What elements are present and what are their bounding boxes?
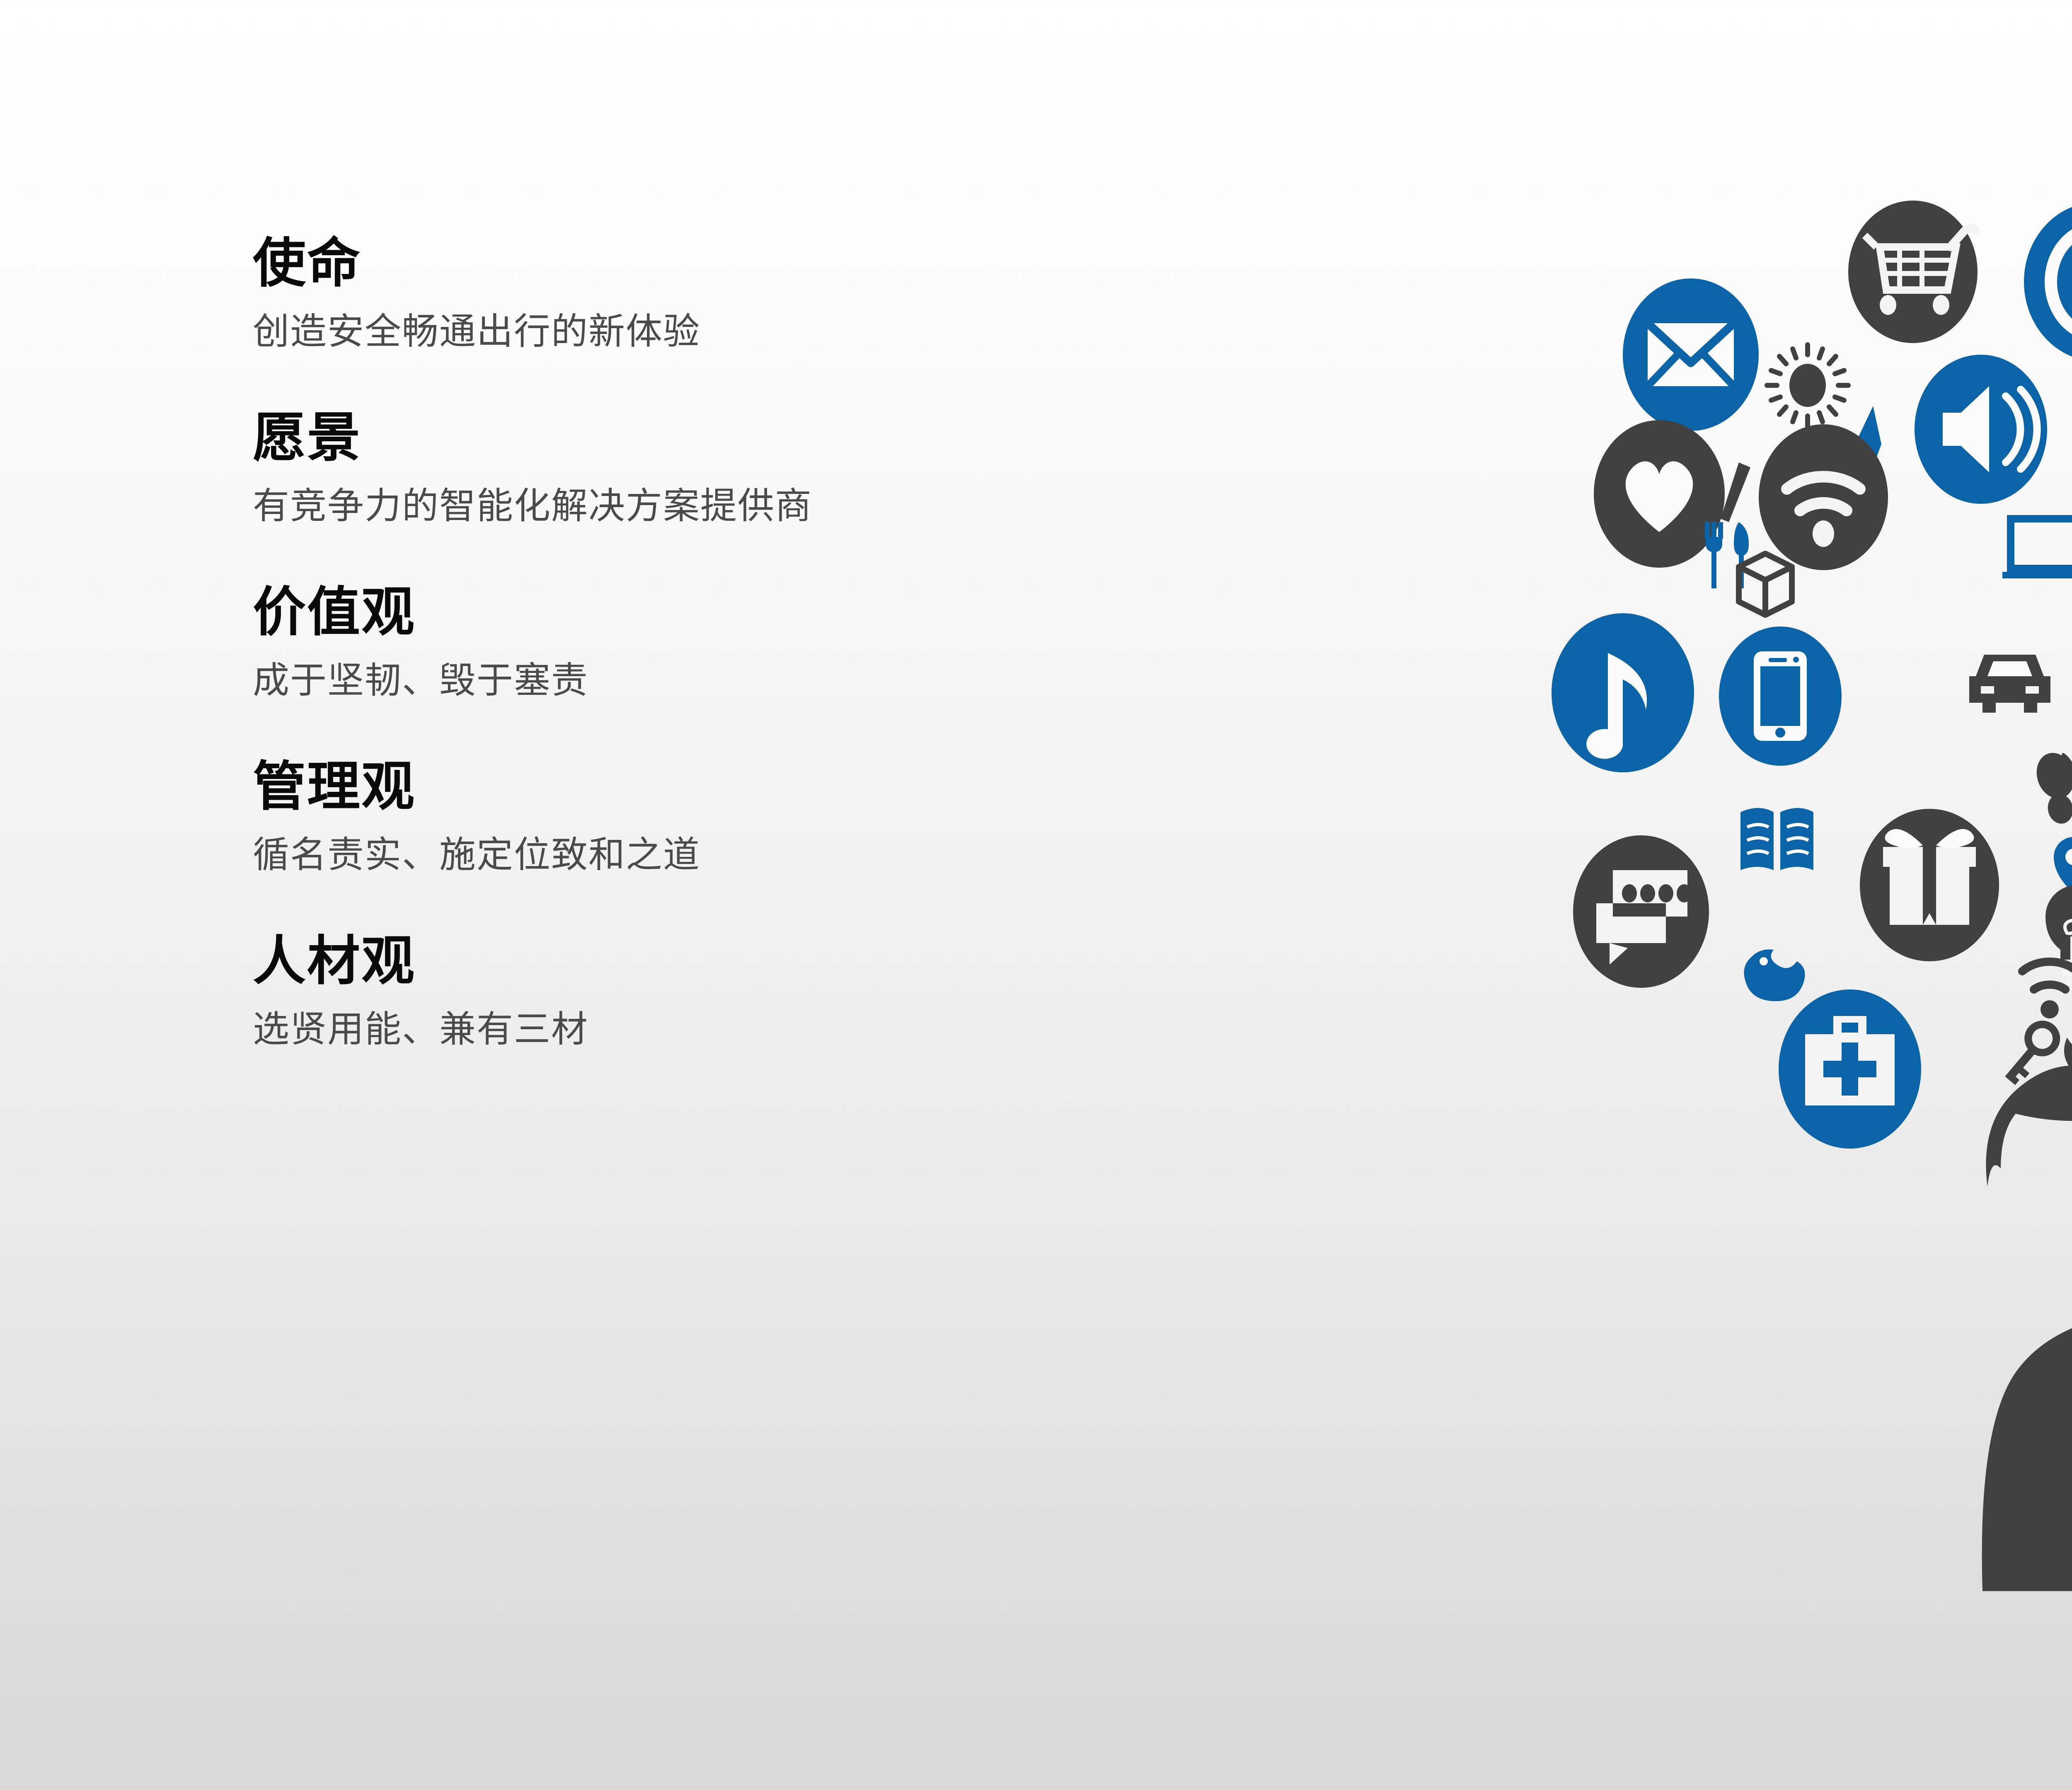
smiley-icon xyxy=(2024,202,2072,361)
value-title-mission: 使命 xyxy=(253,232,1247,295)
smartphone-icon xyxy=(1719,626,1842,766)
briefcase-medical-icon xyxy=(1779,989,1921,1149)
value-title-core-values: 价值观 xyxy=(253,581,1247,643)
car-icon xyxy=(1969,655,2050,713)
sun-icon xyxy=(1767,345,1848,426)
value-block-mission: 使命 创造安全畅通出行的新体验 xyxy=(253,232,1247,354)
heart-icon xyxy=(1594,420,1725,568)
butterfly-icon xyxy=(2031,748,2072,826)
values-list: 使命 创造安全畅通出行的新体验 愿景 有竞争力的智能化解决方案提供商 价值观 成… xyxy=(253,232,1247,1052)
value-block-core-values: 价值观 成于坚韧、毁于塞责 xyxy=(253,581,1247,703)
person-silhouette xyxy=(1982,1033,2072,1591)
value-desc-mission: 创造安全畅通出行的新体验 xyxy=(253,309,1247,354)
small-bird-icon xyxy=(1744,949,1805,1001)
pencil-icon xyxy=(1721,462,1750,522)
value-block-talent: 人材观 选贤用能、兼有三材 xyxy=(253,930,1247,1052)
value-block-vision: 愿景 有竞争力的智能化解决方案提供商 xyxy=(253,406,1247,529)
gift-box-icon xyxy=(1860,809,1999,961)
value-desc-talent: 选贤用能、兼有三材 xyxy=(253,1006,1247,1052)
music-note-icon xyxy=(1552,613,1694,772)
value-title-vision: 愿景 xyxy=(253,406,1247,469)
second-map-pin-icon xyxy=(2054,837,2072,893)
value-desc-vision: 有竞争力的智能化解决方案提供商 xyxy=(253,483,1247,529)
value-desc-management: 循名责实、施定位致和之道 xyxy=(253,832,1247,878)
person-with-idea-icon-cloud: .b { fill: #0b64a8; } .d { fill: #414141… xyxy=(1517,199,2072,1591)
envelope-icon xyxy=(1623,278,1759,431)
open-book-icon xyxy=(1740,808,1813,870)
wifi-icon xyxy=(1759,424,1888,570)
laptop-icon xyxy=(2002,519,2072,578)
open-box-icon xyxy=(1739,554,1792,615)
speaker-icon xyxy=(1915,355,2047,504)
value-block-management: 管理观 循名责实、施定位致和之道 xyxy=(253,755,1247,878)
value-title-management: 管理观 xyxy=(253,755,1247,818)
shopping-cart-icon xyxy=(1848,201,1978,343)
lightbulb-icon xyxy=(2045,885,2072,985)
chat-bubbles-icon xyxy=(1573,835,1709,988)
value-title-talent: 人材观 xyxy=(253,930,1247,992)
fork-knife-icon xyxy=(1706,522,1749,588)
value-desc-core-values: 成于坚韧、毁于塞责 xyxy=(253,658,1247,703)
wifi-small-icon xyxy=(2022,962,2072,1018)
